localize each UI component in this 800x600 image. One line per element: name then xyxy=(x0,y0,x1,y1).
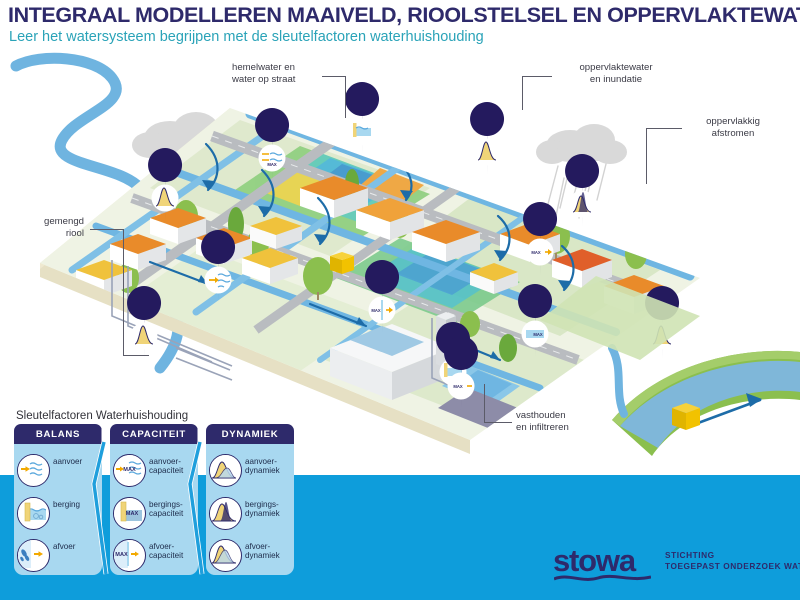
svg-text:MAX: MAX xyxy=(453,384,463,389)
stowa-tagline-line1: STICHTING xyxy=(665,550,800,561)
legend-body-balans: aanvoer xyxy=(14,444,102,575)
max-arrow-right-icon: MAX xyxy=(113,539,146,572)
callout-vasthouden-leader-h xyxy=(484,422,512,423)
callout-oppervlaktewater-line2: en inundatie xyxy=(556,74,676,86)
callout-oppervlakkig-leader-h xyxy=(646,128,682,129)
page-title: INTEGRAAL MODELLEREN MAAIVELD, RIOOLSTEL… xyxy=(8,3,798,28)
waves-arrow-right-icon xyxy=(17,539,50,572)
legend-label-line1: aanvoer- xyxy=(245,457,277,466)
stowa-tagline: STICHTING TOEGEPAST ONDERZOEK WATERBEH xyxy=(665,550,800,571)
legend-title: Sleutelfactoren Waterhuishouding xyxy=(16,410,188,422)
tank-max-icon: MAX xyxy=(113,497,146,530)
legend-header-balans: BALANS xyxy=(14,424,102,444)
legend-label-line1: bergings- xyxy=(149,500,183,509)
legend-item-afvoer[interactable]: afvoer xyxy=(17,539,102,573)
legend-column-dynamiek: DYNAMIEK aanvoer- dynamiek xyxy=(206,424,294,580)
legend-item-afvoer-capaciteit[interactable]: MAX afvoer- capaciteit xyxy=(113,539,198,573)
callout-gemengd-leader-v xyxy=(123,229,124,355)
callout-hemelwater-leader-v xyxy=(345,76,346,118)
legend-label-line1: bergings- xyxy=(245,500,279,509)
map-pin-berging-1[interactable] xyxy=(345,82,379,156)
storage-tank-icon xyxy=(17,497,50,530)
legend-item-aanvoer-dynamiek[interactable]: aanvoer- dynamiek xyxy=(209,454,294,488)
stowa-logo[interactable]: stowa STICHTING TOEGEPAST ONDERZOEK WATE… xyxy=(553,543,800,589)
callout-hemelwater: hemelwater en water op straat xyxy=(232,62,342,85)
legend-body-dynamiek: aanvoer- dynamiek bergings- dyn xyxy=(206,444,294,575)
legend-label-line1: aanvoer- xyxy=(149,457,181,466)
legend-body-capaciteit: MAX aanvoer- capaciteit xyxy=(110,444,198,575)
callout-vasthouden-line2: en infiltreren xyxy=(516,422,626,434)
callout-vasthouden-line1: vasthouden xyxy=(516,410,626,422)
legend-label-line2: capaciteit xyxy=(149,551,183,560)
legend-label-bergings-dynamiek: bergings- dynamiek xyxy=(245,500,297,519)
legend-item-afvoer-dynamiek[interactable]: afvoer- dynamiek xyxy=(209,539,294,573)
legend-label-line2: capaciteit xyxy=(149,509,183,518)
callout-oppervlakkig-line1: oppervlakkig xyxy=(678,116,788,128)
legend-item-bergings-dynamiek[interactable]: bergings- dynamiek xyxy=(209,497,294,531)
svg-text:MAX: MAX xyxy=(533,332,543,337)
legend-item-aanvoer[interactable]: aanvoer xyxy=(17,454,102,488)
callout-hemelwater-leader-h xyxy=(322,76,346,77)
hydrograph-narrow-icon xyxy=(209,497,242,530)
legend-label-line2: dynamiek xyxy=(245,509,280,518)
legend-header-dynamiek: DYNAMIEK xyxy=(206,424,294,444)
legend-item-bergings-capaciteit[interactable]: MAX bergings- capaciteit xyxy=(113,497,198,531)
arrow-max-waves-icon: MAX xyxy=(113,454,146,487)
legend-label-line2: capaciteit xyxy=(149,466,183,475)
stowa-tagline-line2: TOEGEPAST ONDERZOEK WATERBEH xyxy=(665,561,800,572)
legend-item-aanvoer-capaciteit[interactable]: MAX aanvoer- capaciteit xyxy=(113,454,198,488)
stowa-wave-underline xyxy=(554,574,651,583)
callout-gemengd-leader-h2 xyxy=(123,355,149,356)
legend-label-line1: afvoer- xyxy=(149,542,174,551)
legend-label-bergings-capaciteit: bergings- capaciteit xyxy=(149,500,201,519)
svg-text:MAX: MAX xyxy=(267,162,277,167)
legend-label-aanvoer-capaciteit: aanvoer- capaciteit xyxy=(149,457,201,476)
svg-text:MAX: MAX xyxy=(115,552,128,558)
arrow-right-waves-icon xyxy=(17,454,50,487)
legend-column-capaciteit: CAPACITEIT MAX xyxy=(110,424,198,580)
callout-vasthouden: vasthouden en infiltreren xyxy=(516,410,626,433)
legend-label-line2: dynamiek xyxy=(245,466,280,475)
callout-oppervlakkig-leader-v xyxy=(646,128,647,184)
callout-gemengd-riool: gemengd riool xyxy=(10,216,84,239)
map-pin-bergings-dynamiek-1[interactable] xyxy=(565,154,599,228)
callout-vasthouden-leader-v xyxy=(484,384,485,422)
hydrograph-peak-icon xyxy=(209,454,242,487)
callout-oppervlakkig: oppervlakkig afstromen xyxy=(678,116,788,139)
svg-text:MAX: MAX xyxy=(126,511,139,517)
svg-text:MAX: MAX xyxy=(371,308,381,313)
hydrograph-wide-icon xyxy=(209,539,242,572)
legend-header-capaciteit: CAPACITEIT xyxy=(110,424,198,444)
callout-gemengd-leader-h xyxy=(90,229,124,230)
callout-oppervlaktewater-leader-v xyxy=(522,76,523,110)
legend-label-line1: afvoer- xyxy=(245,542,270,551)
svg-text:MAX: MAX xyxy=(531,250,541,255)
legend-panel: BALANS xyxy=(14,424,295,580)
callout-oppervlaktewater: oppervlaktewater en inundatie xyxy=(556,62,676,85)
legend-label-afvoer-dynamiek: afvoer- dynamiek xyxy=(245,542,297,561)
page-subtitle: Leer het watersysteem begrijpen met de s… xyxy=(9,29,709,45)
pump-station-yellow xyxy=(330,252,354,274)
river-pump-station xyxy=(672,403,700,430)
infographic-root: INTEGRAAL MODELLEREN MAAIVELD, RIOOLSTEL… xyxy=(0,0,800,600)
river-southeast xyxy=(612,348,800,456)
legend-label-line2: dynamiek xyxy=(245,551,280,560)
callout-oppervlakkig-line2: afstromen xyxy=(678,128,788,140)
legend-column-balans: BALANS xyxy=(14,424,102,580)
legend-item-berging[interactable]: berging xyxy=(17,497,102,531)
legend-label-aanvoer-dynamiek: aanvoer- dynamiek xyxy=(245,457,297,476)
callout-oppervlaktewater-leader-h xyxy=(522,76,552,77)
callout-gemengd-riool-line2: riool xyxy=(10,228,84,240)
callout-gemengd-riool-line1: gemengd xyxy=(10,216,84,228)
callout-hemelwater-line1: hemelwater en xyxy=(232,62,342,74)
callout-oppervlaktewater-line1: oppervlaktewater xyxy=(556,62,676,74)
svg-text:MAX: MAX xyxy=(123,467,136,473)
map-pin-aanvoer-dynamiek-1[interactable] xyxy=(470,102,504,176)
legend-label-afvoer-capaciteit: afvoer- capaciteit xyxy=(149,542,201,561)
